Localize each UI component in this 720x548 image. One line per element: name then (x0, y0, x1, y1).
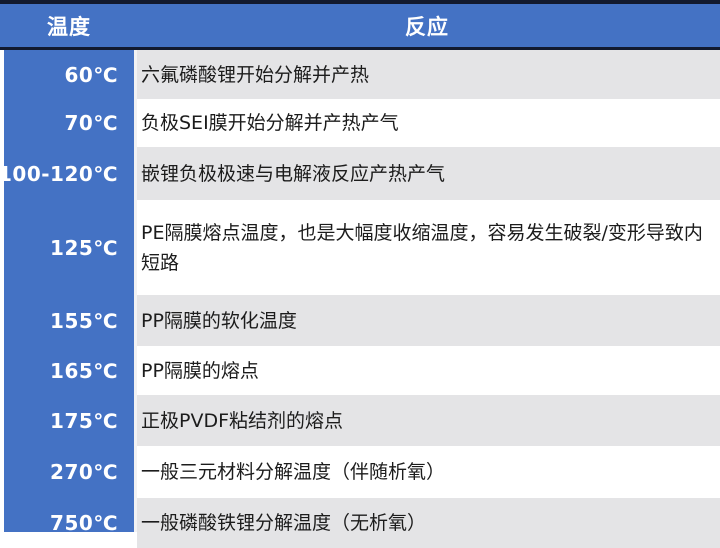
cell-temperature-text: 100-120℃ (0, 162, 118, 186)
table-rows: 六氟磷酸锂开始分解并产热60℃负极SEI膜开始分解并产热产气70℃嵌锂负极极速与… (0, 50, 720, 532)
cell-temperature: 750℃ (4, 498, 134, 548)
cell-temperature: 155℃ (4, 295, 134, 346)
header-label-temperature: 温度 (47, 11, 91, 41)
table-row: PE隔膜熔点温度，也是大幅度收缩温度，容易发生破裂/变形导致内短路125℃ (0, 200, 720, 295)
cell-reaction-text: PE隔膜熔点温度，也是大幅度收缩温度，容易发生破裂/变形导致内短路 (141, 218, 712, 278)
cell-reaction: PE隔膜熔点温度，也是大幅度收缩温度，容易发生破裂/变形导致内短路 (137, 200, 720, 295)
cell-reaction-text: 嵌锂负极极速与电解液反应产热产气 (141, 159, 445, 189)
cell-reaction-text: 一般磷酸铁锂分解温度（无析氧） (141, 508, 426, 538)
cell-temperature: 270℃ (4, 446, 134, 498)
cell-temperature-text: 750℃ (50, 511, 118, 535)
cell-temperature: 70℃ (4, 99, 134, 147)
header-cell-temperature: 温度 (4, 4, 134, 47)
table-row: PP隔膜的熔点165℃ (0, 346, 720, 395)
cell-temperature-text: 165℃ (50, 359, 118, 383)
table-row: PP隔膜的软化温度155℃ (0, 295, 720, 346)
cell-reaction-text: 正极PVDF粘结剂的熔点 (141, 406, 343, 436)
table-row: 负极SEI膜开始分解并产热产气70℃ (0, 99, 720, 147)
cell-temperature-text: 60℃ (64, 63, 118, 87)
table-header-row: 温度 反应 (0, 4, 720, 47)
cell-reaction: 六氟磷酸锂开始分解并产热 (137, 50, 720, 99)
cell-temperature: 165℃ (4, 346, 134, 395)
cell-reaction: 正极PVDF粘结剂的熔点 (137, 395, 720, 446)
table-row: 六氟磷酸锂开始分解并产热60℃ (0, 50, 720, 99)
cell-temperature: 100-120℃ (4, 147, 134, 200)
table-body: 六氟磷酸锂开始分解并产热60℃负极SEI膜开始分解并产热产气70℃嵌锂负极极速与… (0, 50, 720, 532)
table-row: 一般磷酸铁锂分解温度（无析氧）750℃ (0, 498, 720, 548)
cell-temperature-text: 270℃ (50, 460, 118, 484)
cell-reaction: PP隔膜的软化温度 (137, 295, 720, 346)
cell-temperature: 175℃ (4, 395, 134, 446)
thermal-runaway-table: 温度 反应 六氟磷酸锂开始分解并产热60℃负极SEI膜开始分解并产热产气70℃嵌… (0, 0, 720, 532)
table-row: 正极PVDF粘结剂的熔点175℃ (0, 395, 720, 446)
table-row: 嵌锂负极极速与电解液反应产热产气100-120℃ (0, 147, 720, 200)
cell-temperature-text: 175℃ (50, 409, 118, 433)
cell-temperature: 60℃ (4, 50, 134, 99)
cell-reaction-text: 六氟磷酸锂开始分解并产热 (141, 60, 369, 90)
cell-reaction-text: 负极SEI膜开始分解并产热产气 (141, 108, 399, 138)
cell-temperature-text: 155℃ (50, 309, 118, 333)
cell-reaction: PP隔膜的熔点 (137, 346, 720, 395)
cell-temperature-text: 70℃ (64, 111, 118, 135)
cell-reaction: 嵌锂负极极速与电解液反应产热产气 (137, 147, 720, 200)
cell-reaction-text: PP隔膜的熔点 (141, 356, 259, 386)
table-row: 一般三元材料分解温度（伴随析氧）270℃ (0, 446, 720, 498)
cell-reaction-text: 一般三元材料分解温度（伴随析氧） (141, 457, 445, 487)
header-label-reaction: 反应 (405, 11, 449, 41)
cell-temperature-text: 125℃ (50, 236, 118, 260)
cell-reaction: 一般磷酸铁锂分解温度（无析氧） (137, 498, 720, 548)
cell-reaction: 负极SEI膜开始分解并产热产气 (137, 99, 720, 147)
cell-reaction: 一般三元材料分解温度（伴随析氧） (137, 446, 720, 498)
header-cell-reaction: 反应 (134, 4, 720, 47)
cell-reaction-text: PP隔膜的软化温度 (141, 306, 297, 336)
cell-temperature: 125℃ (4, 200, 134, 295)
